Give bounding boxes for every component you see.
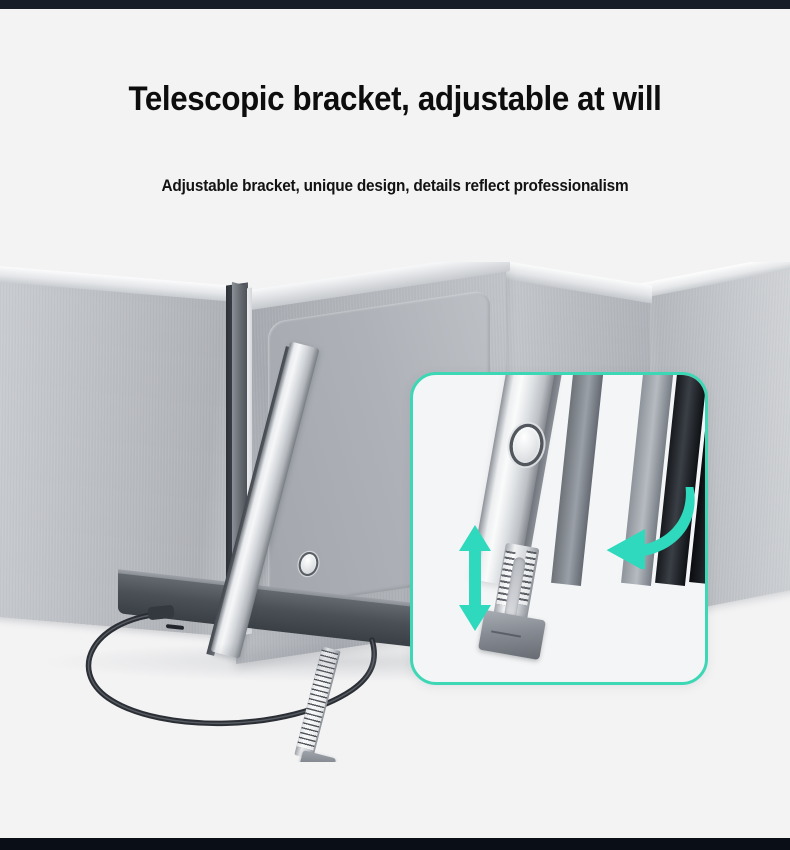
top-rail	[0, 0, 790, 9]
telescopic-bracket-detail-callout	[410, 372, 708, 685]
kickstand-rubber-foot	[298, 750, 336, 762]
page-title: Telescopic bracket, adjustable at will	[32, 79, 759, 119]
rotate-arrow-icon	[601, 487, 708, 569]
bottom-rail	[0, 838, 790, 850]
heading-block: Telescopic bracket, adjustable at will A…	[0, 9, 790, 275]
page-subtitle: Adjustable bracket, unique design, detai…	[28, 175, 763, 197]
up-down-arrow-icon	[453, 523, 497, 633]
callout-scene	[413, 375, 705, 682]
product-feature-page: Telescopic bracket, adjustable at will A…	[0, 0, 790, 850]
